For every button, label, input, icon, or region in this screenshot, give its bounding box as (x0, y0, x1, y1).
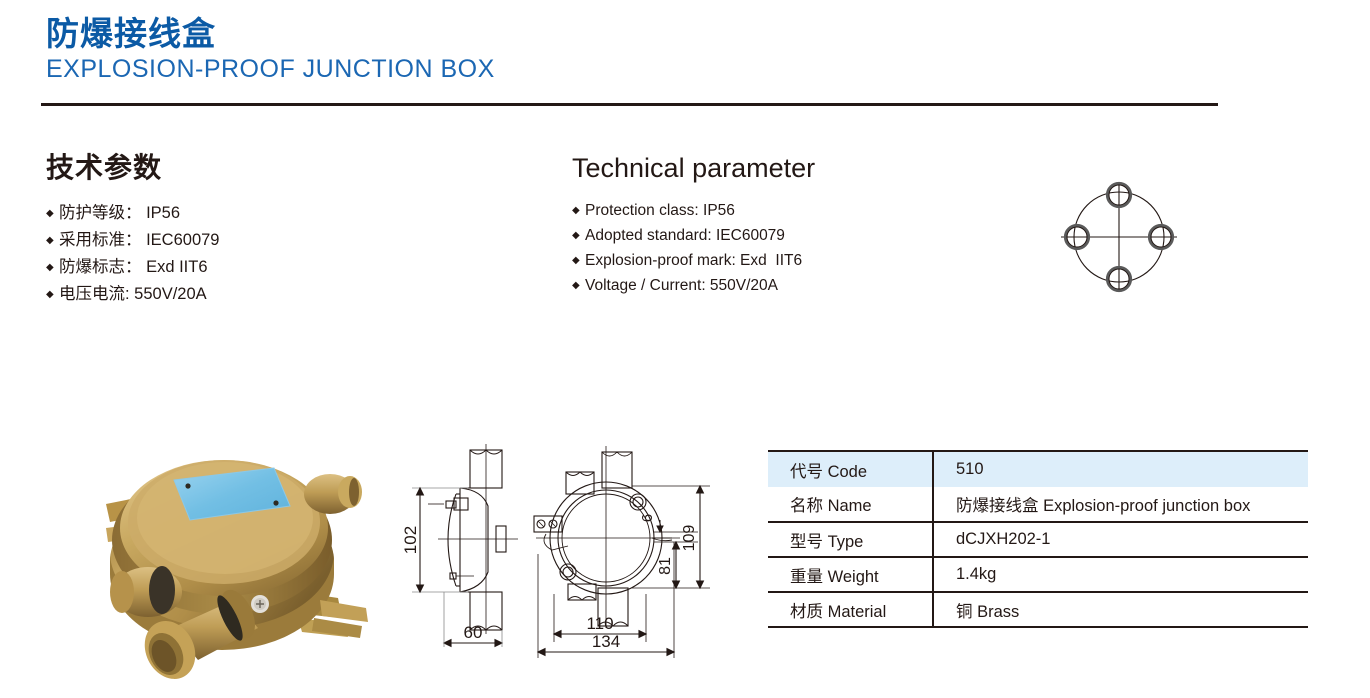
table-row: 名称 Name 防爆接线盒 Explosion-proof junction b… (768, 487, 1308, 522)
list-item: ◆ 采用标准： IEC60079 (46, 227, 219, 254)
dimension-label: 81 (657, 557, 674, 575)
table-row: 代号 Code 510 (768, 452, 1308, 487)
diamond-bullet-icon: ◆ (46, 290, 59, 300)
spec-item-text: Voltage / Current: 550V/20A (585, 273, 778, 298)
spec-item-text: Explosion-proof mark: Exd IIT6 (585, 248, 802, 273)
table-row: 材质 Material 铜 Brass (768, 592, 1308, 627)
table-row: 型号 Type dCJXH202-1 (768, 522, 1308, 557)
diamond-bullet-icon: ◆ (572, 256, 585, 266)
diamond-bullet-icon: ◆ (572, 206, 585, 216)
table-cell-label: 名称 Name (768, 487, 933, 522)
table-cell-value: 防爆接线盒 Explosion-proof junction box (933, 487, 1308, 522)
list-item: ◆ Voltage / Current: 550V/20A (572, 273, 815, 298)
side-view-drawing: 102 60 (398, 442, 548, 662)
table-cell-value: 铜 Brass (933, 592, 1308, 627)
spec-heading-en: Technical parameter (572, 150, 815, 186)
dimension-label: 110 (586, 614, 613, 633)
spec-list-en: ◆ Protection class: IP56 ◆ Adopted stand… (572, 198, 815, 298)
header-divider (41, 103, 1218, 106)
table-top-border (768, 450, 1308, 452)
table-cell-value: 510 (933, 452, 1308, 487)
table-cell-label: 材质 Material (768, 592, 933, 627)
dimension-label: 109 (681, 525, 698, 552)
diamond-bullet-icon: ◆ (46, 263, 59, 273)
page-title-cn: 防爆接线盒 (46, 14, 216, 54)
table-cell-value: dCJXH202-1 (933, 522, 1308, 557)
diamond-bullet-icon: ◆ (46, 236, 59, 246)
spec-item-text: 防爆标志： Exd IIT6 (59, 254, 208, 281)
list-item: ◆ 防护等级： IP56 (46, 200, 219, 227)
cable-gland (304, 474, 362, 514)
table-cell-label: 代号 Code (768, 452, 933, 487)
diamond-bullet-icon: ◆ (46, 209, 59, 219)
front-view-drawing: 109 81 6 110 (528, 442, 714, 669)
dimension-label: 6 (639, 514, 656, 522)
table-row: 重量 Weight 1.4kg (768, 557, 1308, 592)
page-title-en: EXPLOSION-PROOF JUNCTION BOX (46, 53, 495, 85)
technical-parameters-cn: 技术参数 ◆ 防护等级： IP56 ◆ 采用标准： IEC60079 ◆ 防爆标… (46, 150, 219, 308)
dimension-label: 60 (464, 623, 483, 642)
diamond-bullet-icon: ◆ (572, 231, 585, 241)
spec-item-text: 防护等级： IP56 (59, 200, 180, 227)
list-item: ◆ Explosion-proof mark: Exd IIT6 (572, 248, 815, 273)
technical-parameters-en: Technical parameter ◆ Protection class: … (572, 150, 815, 298)
dimension-label: 134 (592, 632, 620, 651)
spec-item-text: 采用标准： IEC60079 (59, 227, 219, 254)
dimension-label: 102 (401, 526, 420, 554)
product-photo (62, 432, 392, 694)
table-cell-value: 1.4kg (933, 557, 1308, 592)
list-item: ◆ Adopted standard: IEC60079 (572, 223, 815, 248)
spec-item-text: 电压电流: 550V/20A (59, 281, 207, 308)
four-way-entry-diagram (1055, 178, 1183, 301)
spec-list-cn: ◆ 防护等级： IP56 ◆ 采用标准： IEC60079 ◆ 防爆标志： Ex… (46, 200, 219, 308)
spec-item-text: Protection class: IP56 (585, 198, 735, 223)
list-item: ◆ Protection class: IP56 (572, 198, 815, 223)
spec-item-text: Adopted standard: IEC60079 (585, 223, 785, 248)
spec-heading-cn: 技术参数 (46, 150, 219, 186)
diamond-bullet-icon: ◆ (572, 281, 585, 291)
specification-table: 代号 Code 510 名称 Name 防爆接线盒 Explosion-proo… (768, 452, 1308, 628)
list-item: ◆ 防爆标志： Exd IIT6 (46, 254, 219, 281)
table-cell-label: 型号 Type (768, 522, 933, 557)
cable-gland (110, 566, 182, 617)
earth-screw (251, 595, 269, 613)
table-cell-label: 重量 Weight (768, 557, 933, 592)
list-item: ◆ 电压电流: 550V/20A (46, 281, 219, 308)
product-spec-sheet: 防爆接线盒 EXPLOSION-PROOF JUNCTION BOX 技术参数 … (0, 0, 1370, 698)
